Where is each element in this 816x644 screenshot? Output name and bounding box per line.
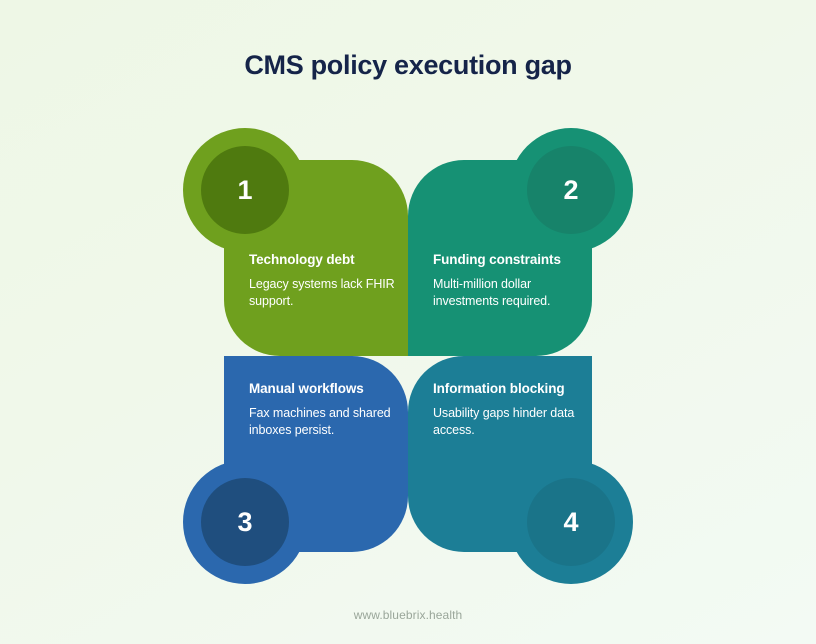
infographic-canvas: CMS policy execution gap 1 Technology de… xyxy=(0,0,816,644)
quadrant-card-4[interactable]: 4 Information blocking Usability gaps hi… xyxy=(408,356,633,584)
quadrant-1-heading: Technology debt xyxy=(249,251,401,270)
quadrant-4-description: Usability gaps hinder data access. xyxy=(433,405,585,440)
quadrant-card-2[interactable]: 2 Funding constraints Multi-million doll… xyxy=(408,128,633,356)
quadrant-diagram: 1 Technology debt Legacy systems lack FH… xyxy=(183,128,633,584)
quadrant-2-number-badge: 2 xyxy=(527,146,615,234)
quadrant-1-number-badge: 1 xyxy=(201,146,289,234)
quadrant-4-text: Information blocking Usability gaps hind… xyxy=(433,380,585,440)
quadrant-1-description: Legacy systems lack FHIR support. xyxy=(249,276,401,311)
quadrant-3-number-badge: 3 xyxy=(201,478,289,566)
quadrant-4-number: 4 xyxy=(563,509,578,536)
quadrant-3-description: Fax machines and shared inboxes persist. xyxy=(249,405,401,440)
quadrant-3-number: 3 xyxy=(237,509,252,536)
quadrant-card-3[interactable]: 3 Manual workflows Fax machines and shar… xyxy=(183,356,408,584)
quadrant-4-number-badge: 4 xyxy=(527,478,615,566)
quadrant-2-text: Funding constraints Multi-million dollar… xyxy=(433,251,585,311)
page-title: CMS policy execution gap xyxy=(0,50,816,81)
quadrant-3-heading: Manual workflows xyxy=(249,380,401,399)
quadrant-card-1[interactable]: 1 Technology debt Legacy systems lack FH… xyxy=(183,128,408,356)
quadrant-2-number: 2 xyxy=(563,177,578,204)
quadrant-2-heading: Funding constraints xyxy=(433,251,585,270)
quadrant-3-text: Manual workflows Fax machines and shared… xyxy=(249,380,401,440)
quadrant-4-heading: Information blocking xyxy=(433,380,585,399)
footer-url: www.bluebrix.health xyxy=(0,608,816,622)
quadrant-1-text: Technology debt Legacy systems lack FHIR… xyxy=(249,251,401,311)
quadrant-2-description: Multi-million dollar investments require… xyxy=(433,276,585,311)
quadrant-1-number: 1 xyxy=(237,177,252,204)
